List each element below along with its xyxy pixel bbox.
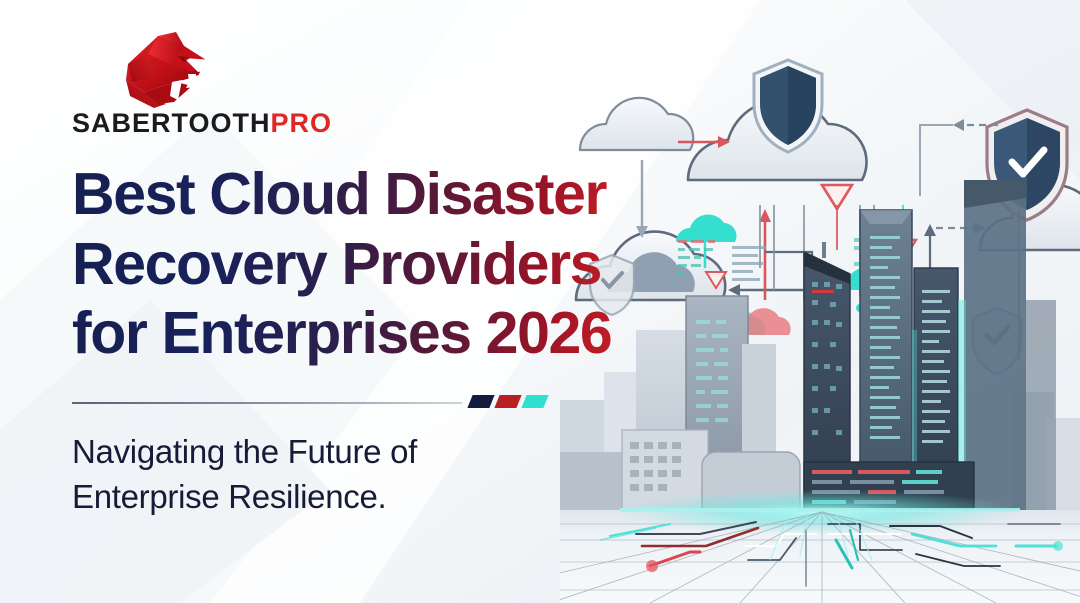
hero-content: SABERTOOTHPRO Best Cloud Disaster Recove… [72,30,712,520]
page-subtitle: Navigating the Future of Enterprise Resi… [72,429,712,520]
arrow-left-icon [728,284,812,296]
divider-rule [72,402,462,404]
sabertooth-tiger-head-icon [114,30,222,110]
brand-logo[interactable]: SABERTOOTHPRO [72,30,302,138]
accent-bar-navy [467,395,494,408]
accent-bar-red [494,395,521,408]
cloud-with-shield-icon [688,60,867,180]
headline-line-2: Recovery Providers [72,230,712,300]
subtitle-line-1: Navigating the Future of [72,429,712,475]
divider [72,395,542,411]
headline-line-3: for Enterprises 2026 [72,299,712,369]
brand-wordmark: SABERTOOTHPRO [72,110,332,137]
accent-bars [470,395,546,408]
page-title: Best Cloud Disaster Recovery Providers f… [72,160,712,369]
headline-line-1: Best Cloud Disaster [72,160,712,230]
brand-name-secondary: PRO [271,108,333,138]
hero-banner: SABERTOOTHPRO Best Cloud Disaster Recove… [0,0,1080,603]
subtitle-line-2: Enterprise Resilience. [72,474,712,520]
brand-name-primary: SABERTOOTH [72,108,271,138]
accent-bar-teal [521,395,548,408]
